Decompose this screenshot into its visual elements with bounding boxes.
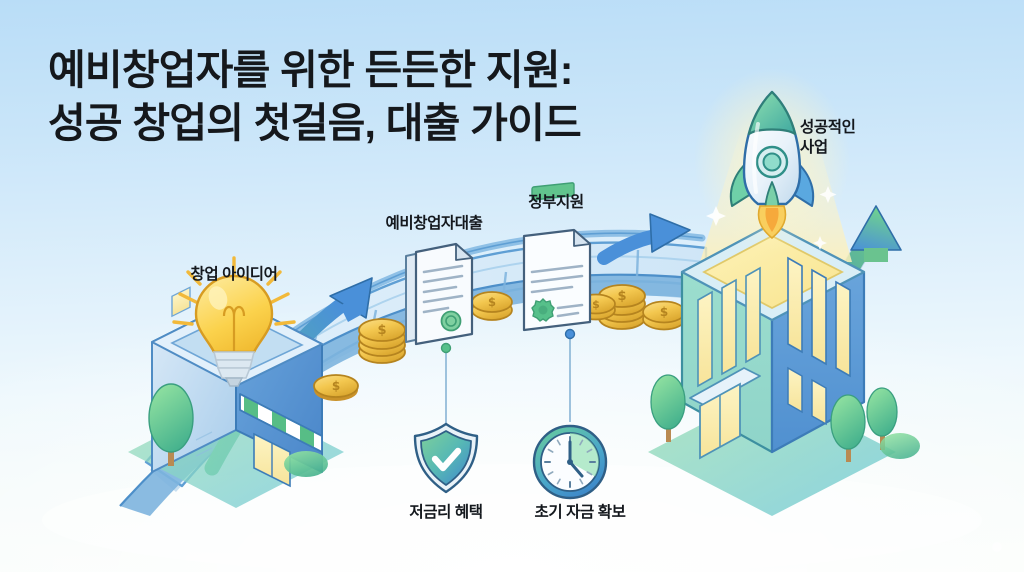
svg-text:$: $: [332, 379, 340, 393]
label-startup-idea: 창업 아이디어: [190, 265, 277, 285]
clock-icon: [534, 426, 606, 498]
infographic-canvas: $ $ $ $: [0, 0, 1024, 572]
document-icon: [406, 244, 472, 344]
svg-text:$: $: [660, 305, 668, 319]
corner-dot: [992, 542, 1002, 552]
svg-text:$: $: [592, 298, 600, 311]
svg-text:$: $: [617, 289, 626, 304]
label-preliminary-founder-loan: 예비창업자대출: [385, 214, 482, 234]
svg-text:$: $: [377, 323, 386, 338]
label-initial-funding: 초기 자금 확보: [535, 503, 626, 523]
page-title: 예비창업자를 위한 든든한 지원: 성공 창업의 첫걸음, 대출 가이드: [48, 44, 748, 151]
label-successful-business: 성공적인 사업: [800, 118, 855, 158]
label-low-interest-benefit: 저금리 혜택: [409, 503, 482, 523]
label-government-support: 정부지원: [528, 193, 583, 213]
svg-text:$: $: [488, 295, 496, 309]
